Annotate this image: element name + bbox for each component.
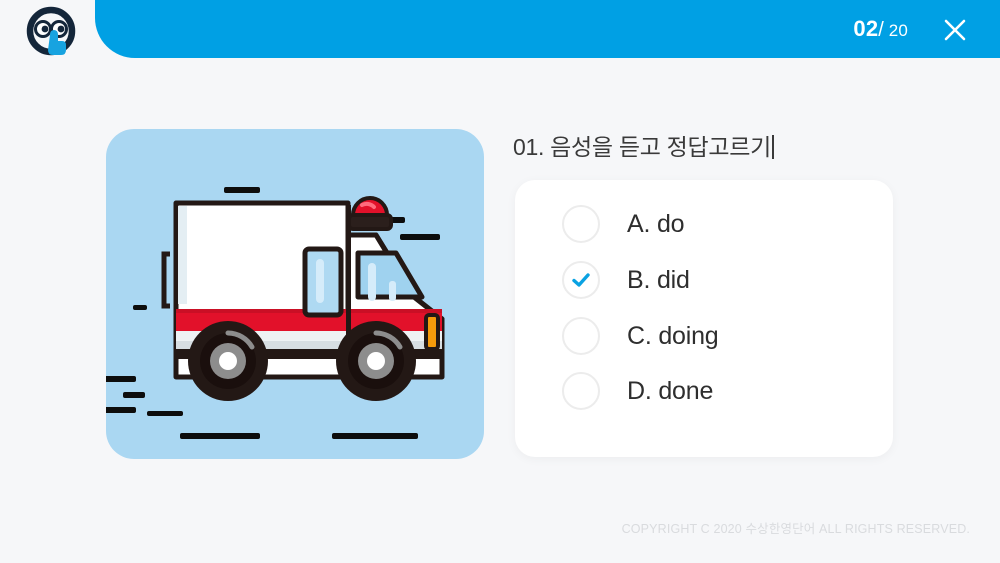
progress-current: 02 (853, 16, 878, 41)
option-c[interactable]: C. doing (562, 317, 719, 355)
progress-total: 20 (889, 21, 908, 40)
copyright-text: COPYRIGHT C 2020 수상한영단어 ALL RIGHTS RESER… (622, 518, 970, 537)
option-b[interactable]: B. did (562, 261, 690, 299)
radio-icon-b[interactable] (562, 261, 600, 299)
ambulance-icon (106, 129, 484, 459)
progress-counter: 02/ 20 (853, 16, 908, 42)
radio-icon-a[interactable] (562, 205, 600, 243)
radio-icon-d[interactable] (562, 372, 600, 410)
option-label-b: B. did (627, 266, 690, 295)
option-d[interactable]: D. done (562, 372, 713, 410)
text-caret (772, 135, 774, 159)
answer-options-card: A. do B. did C. doing D. done (515, 180, 893, 457)
option-label-a: A. do (627, 210, 684, 239)
close-icon[interactable] (940, 15, 970, 45)
question-text: 01. 음성을 듣고 정답고르기 (513, 134, 771, 160)
radio-icon-c[interactable] (562, 317, 600, 355)
option-label-c: C. doing (627, 322, 719, 351)
option-label-d: D. done (627, 377, 713, 406)
question-image-card (106, 129, 484, 459)
option-a[interactable]: A. do (562, 205, 684, 243)
check-icon (570, 269, 592, 291)
header-bar: 02/ 20 (95, 0, 1000, 58)
progress-separator: / (878, 19, 884, 41)
app-logo (22, 5, 80, 63)
page-title: 01. 음성을 듣고 정답고르기 (513, 128, 774, 162)
